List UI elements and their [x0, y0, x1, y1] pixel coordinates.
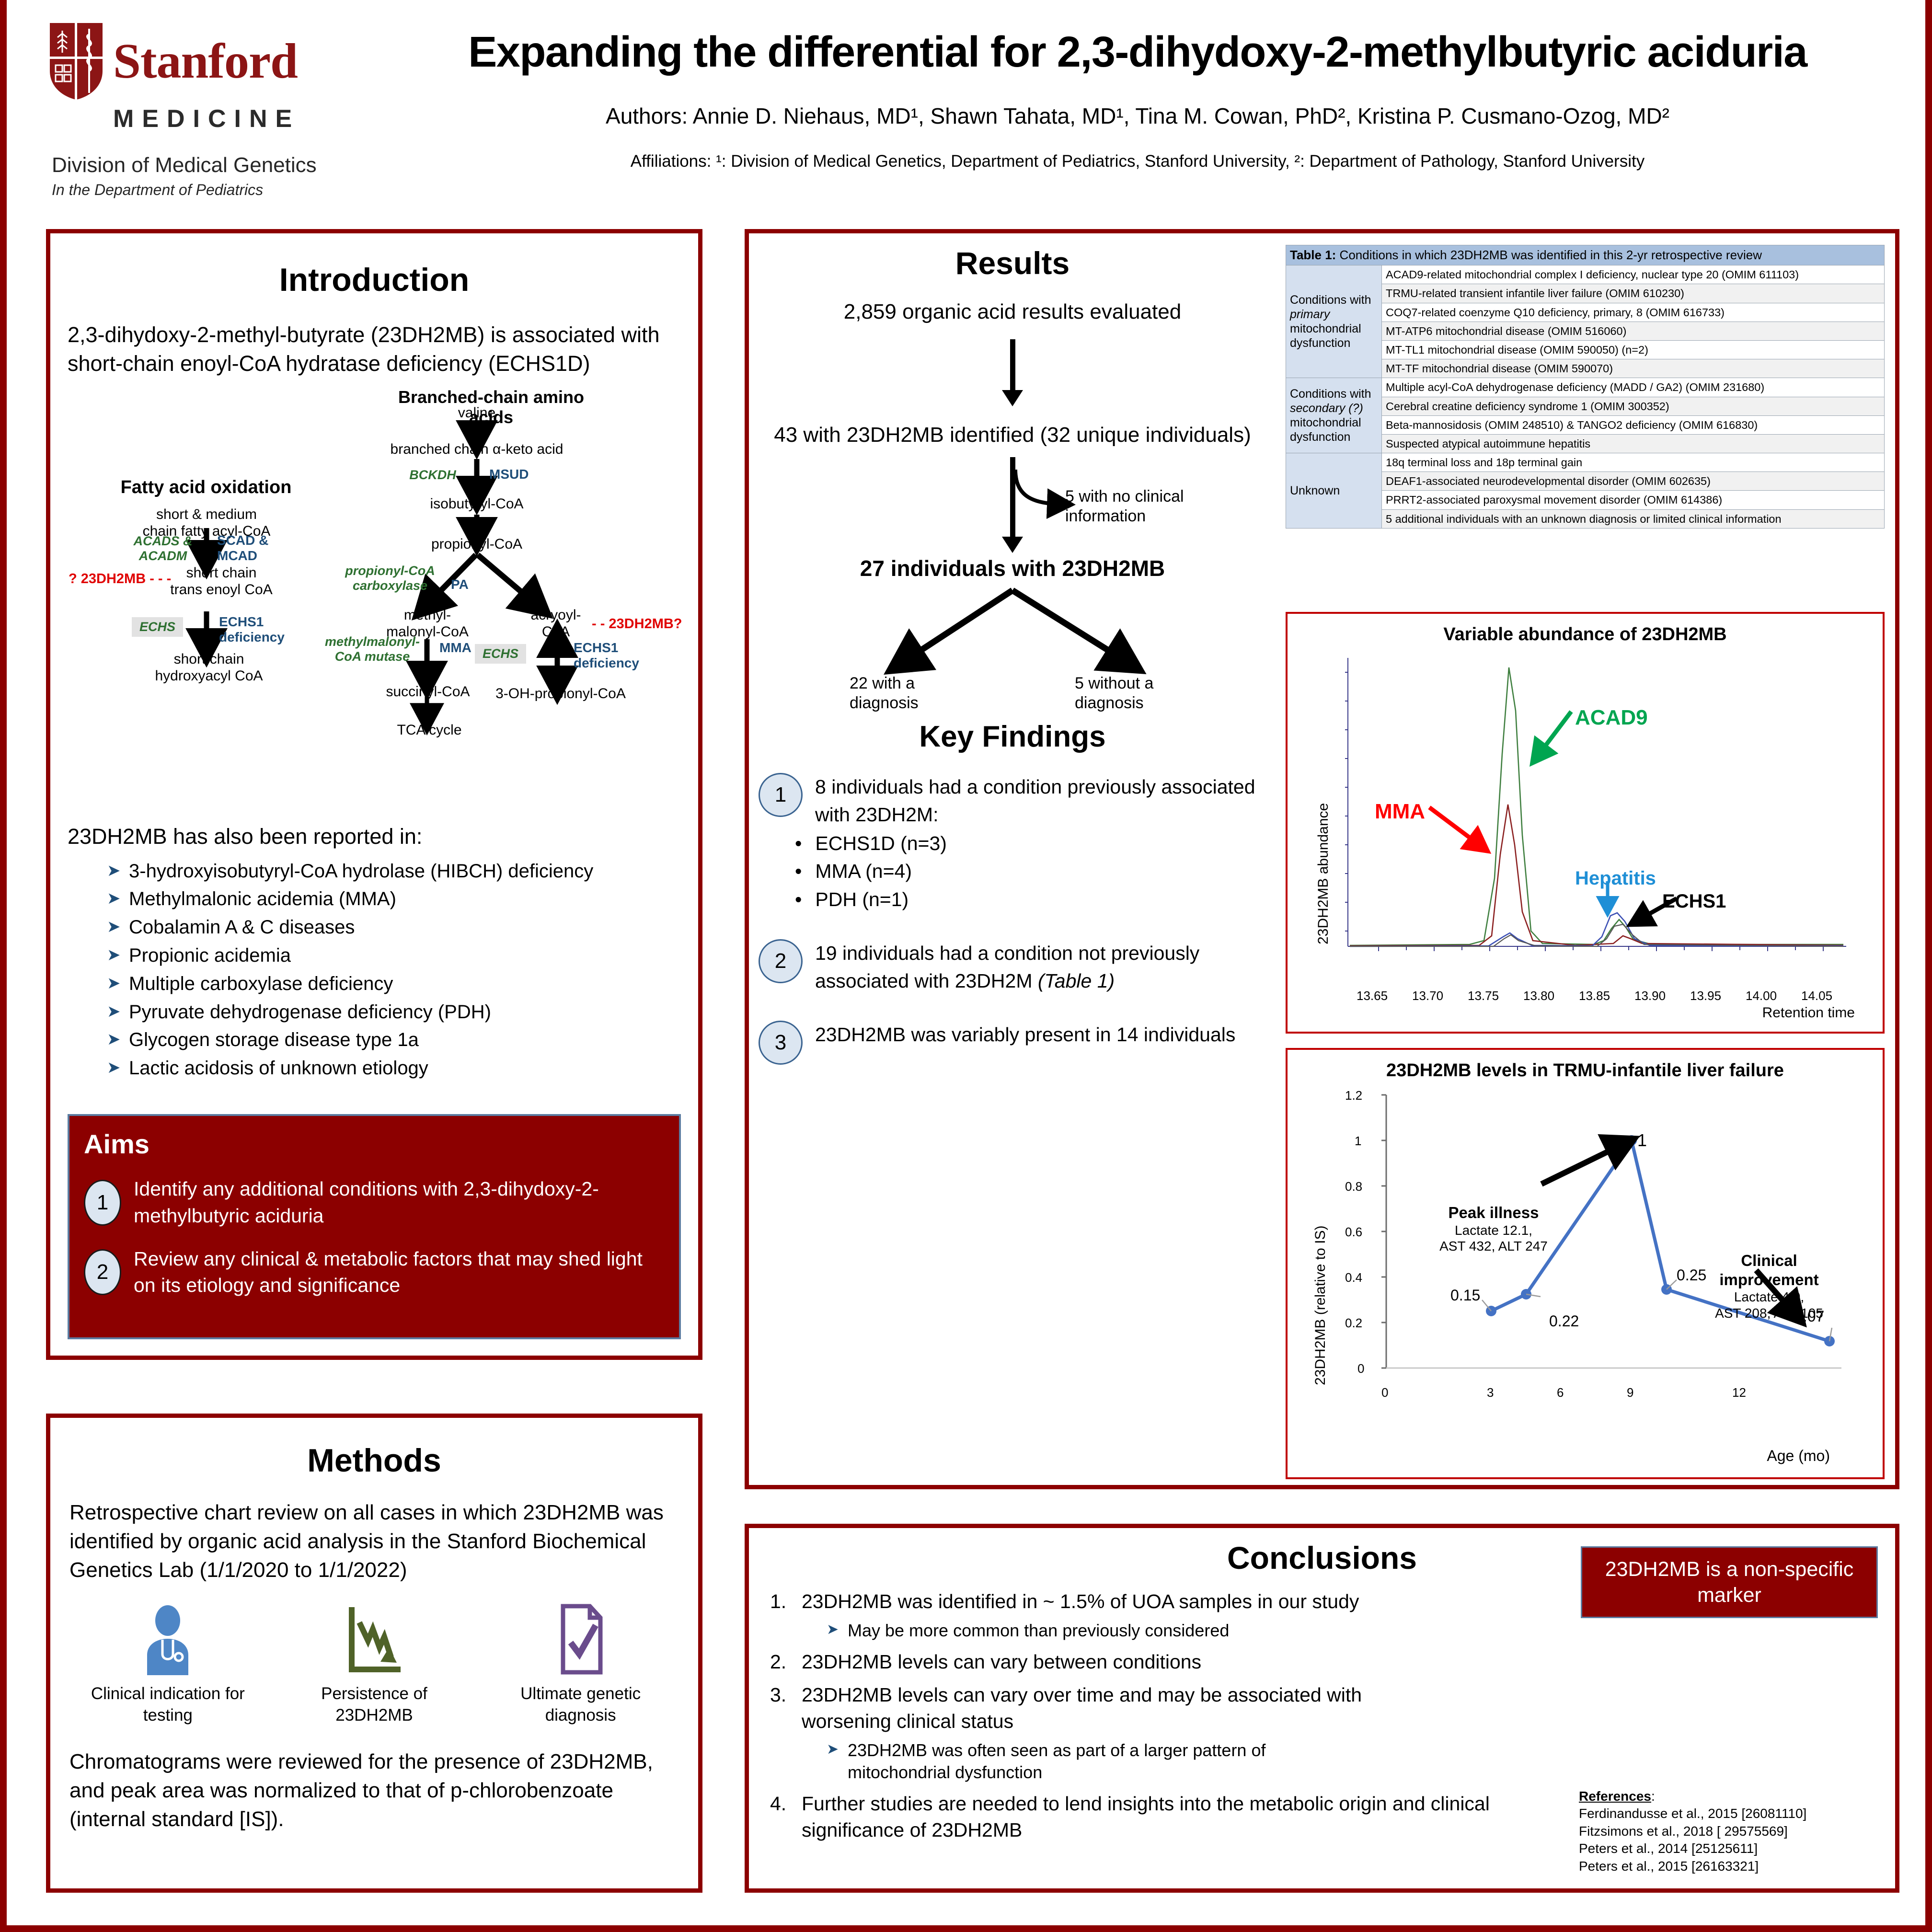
methods-paragraph-2: Chromatograms were reviewed for the pres… [69, 1748, 679, 1833]
key-finding-text: 23DH2MB was variably present in 14 indiv… [815, 1021, 1235, 1048]
list-item: ➤Cobalamin A & C diseases [107, 914, 681, 941]
annotation-acad9: ACAD9 [1575, 706, 1648, 730]
table-row: Conditions with primary mitochondrial dy… [1286, 265, 1885, 284]
authors-prefix: Authors: [606, 103, 693, 128]
key-finding-text: 19 individuals had a condition not previ… [815, 939, 1266, 995]
conclusion-item: 4. Further studies are needed to lend in… [770, 1791, 1561, 1843]
department-label: In the Department of Pediatrics [52, 181, 355, 199]
pathway-arrows-svg [50, 386, 698, 817]
conclusion-subtext: May be more common than previously consi… [848, 1620, 1229, 1642]
conclusion-item: 3. 23DH2MB levels can vary over time and… [770, 1682, 1561, 1735]
clinician-icon [137, 1603, 199, 1675]
table-row: Table 1: Conditions in which 23DH2MB was… [1286, 245, 1885, 265]
node-acryoyl-coa: acryoyl- CoA [510, 607, 601, 641]
table1-category-unknown: Unknown [1286, 453, 1382, 529]
non-specific-marker-callout: 23DH2MB is a non-specific marker [1581, 1546, 1878, 1618]
list-item: MMA (n=4) [795, 857, 1266, 885]
table1: Table 1: Conditions in which 23DH2MB was… [1286, 245, 1885, 529]
disease-echs1-deficiency-right: ECHS1 deficiency [574, 640, 669, 671]
reference-item: Peters et al., 2015 [26163321] [1579, 1858, 1866, 1875]
marker-23dh2mb-right: - - 23DH2MB? [592, 616, 682, 632]
x-tick: 0 [1381, 1385, 1388, 1400]
conclusion-number: 4. [770, 1791, 802, 1843]
methods-icon-label: Ultimate genetic diagnosis [502, 1683, 660, 1726]
node-propionyl-coa: propionyl-CoA [414, 536, 539, 552]
medicine-wordmark: MEDICINE [113, 104, 355, 133]
fao-header: Fatty acid oxidation [103, 477, 309, 498]
chromatogram-title: Variable abundance of 23DH2MB [1288, 624, 1883, 645]
enzyme-propionyl-coa-carboxylase: propionyl-CoA carboxylase [335, 563, 445, 594]
flow-step-1: 2,859 organic acid results evaluated [759, 299, 1266, 325]
x-tick: 3 [1487, 1385, 1494, 1400]
methods-paragraph-1: Retrospective chart review on all cases … [69, 1498, 679, 1584]
methods-icon-item: Clinical indication for testing [89, 1603, 247, 1726]
flow-side-note: 5 with no clinical information [1065, 487, 1242, 527]
enzyme-acads-acadm: ACADS & ACADM [127, 534, 199, 564]
key-finding-item: 1 8 individuals had a condition previous… [759, 773, 1266, 828]
list-item: ➤Pyruvate dehydrogenase deficiency (PDH) [107, 999, 681, 1026]
key-finding-item: 3 23DH2MB was variably present in 14 ind… [759, 1021, 1266, 1065]
methods-icon-item: Persistence of 23DH2MB [295, 1603, 453, 1726]
chevron-right-icon: ➤ [827, 1739, 848, 1784]
table1-cell: PRRT2-associated paroxysmal movement dis… [1382, 491, 1885, 509]
chevron-right-icon: ➤ [107, 1055, 129, 1081]
methods-panel: Methods Retrospective chart review on al… [46, 1414, 702, 1893]
affiliations-line: Affiliations: ¹: Division of Medical Gen… [371, 152, 1904, 171]
aim-number-badge: 2 [84, 1249, 121, 1295]
key-finding-text: 8 individuals had a condition previously… [815, 773, 1266, 828]
trmu-chart-panel: 23DH2MB levels in TRMU-infantile liver f… [1286, 1048, 1885, 1479]
key-finding-item: 2 19 individuals had a condition not pre… [759, 939, 1266, 995]
title-block: Expanding the differential for 2,3-dihyd… [371, 29, 1904, 171]
conclusion-text: 23DH2MB levels can vary over time and ma… [802, 1682, 1405, 1735]
table-row: Unknown 18q terminal loss and 18p termin… [1286, 453, 1885, 472]
annotation-clinical-improvement-detail: Lactate 4.0, AST 208, ALT 105 [1695, 1289, 1843, 1321]
table1-cell: 5 additional individuals with an unknown… [1382, 509, 1885, 528]
key-findings-title: Key Findings [759, 720, 1266, 754]
point-label: 1 [1637, 1130, 1647, 1150]
aims-box: Aims 1 Identify any additional condition… [68, 1114, 681, 1339]
list-item-label: Cobalamin A & C diseases [129, 914, 355, 941]
chevron-right-icon: ➤ [107, 885, 129, 911]
x-tick: 13.80 [1523, 989, 1554, 1003]
table-row: Conditions with secondary (?) mitochondr… [1286, 378, 1885, 397]
table1-cell: 18q terminal loss and 18p terminal gain [1382, 453, 1885, 472]
key-finding-sublist: ECHS1D (n=3) MMA (n=4) PDH (n=1) [795, 829, 1266, 913]
introduction-panel: Introduction 2,3-dihydoxy-2-methyl-butyr… [46, 229, 702, 1360]
conclusion-item: 1. 23DH2MB was identified in ~ 1.5% of U… [770, 1588, 1561, 1615]
conclusion-text: Further studies are needed to lend insig… [802, 1791, 1492, 1843]
annotation-hepatitis: Hepatitis [1575, 868, 1656, 889]
annotation-echs1: ECHS1 [1662, 891, 1726, 912]
x-tick: 13.75 [1468, 989, 1499, 1003]
y-tick: 0.2 [1345, 1316, 1362, 1331]
stanford-shield-icon [48, 21, 104, 102]
node-isobutyryl-coa: isobutyryl-CoA [414, 495, 539, 512]
key-finding-number-badge: 3 [759, 1021, 803, 1065]
annotation-clinical-improvement: Clinical improvement Lactate 4.0, AST 20… [1695, 1251, 1843, 1321]
conclusions-list: 1. 23DH2MB was identified in ~ 1.5% of U… [770, 1588, 1561, 1843]
table1-category-secondary: Conditions with secondary (?) mitochondr… [1286, 378, 1382, 453]
disease-msud: MSUD [489, 467, 561, 482]
list-item: ➤Glycogen storage disease type 1a [107, 1026, 681, 1054]
disease-scad-mcad: SCAD & MCAD [217, 533, 303, 564]
stanford-wordmark: Stanford [113, 36, 298, 86]
authors-names: Annie D. Niehaus, MD¹, Shawn Tahata, MD¹… [693, 103, 1669, 128]
conclusion-subitem: ➤ May be more common than previously con… [827, 1620, 1561, 1642]
trmu-chart-title: 23DH2MB levels in TRMU-infantile liver f… [1288, 1060, 1883, 1081]
affiliations-prefix: Affiliations: [631, 152, 716, 171]
page-title: Expanding the differential for 2,3-dihyd… [371, 29, 1904, 76]
key-finding-main: 19 individuals had a condition not previ… [815, 942, 1199, 992]
aim-item: 2 Review any clinical & metabolic factor… [84, 1246, 665, 1299]
list-item: ➤Methylmalonic acidemia (MMA) [107, 885, 681, 913]
methods-icon-item: Ultimate genetic diagnosis [502, 1603, 660, 1726]
list-item-label: Lactic acidosis of unknown etiology [129, 1055, 428, 1082]
list-item: PDH (n=1) [795, 885, 1266, 913]
chevron-right-icon: ➤ [107, 942, 129, 968]
list-item-label: Glycogen storage disease type 1a [129, 1026, 419, 1054]
conclusion-text: 23DH2MB was identified in ~ 1.5% of UOA … [802, 1588, 1359, 1615]
conclusion-subtext: 23DH2MB was often seen as part of a larg… [848, 1739, 1327, 1784]
metabolic-pathway-diagram: Branched-chain amino acids Fatty acid ox… [50, 386, 698, 817]
table1-cell: Beta-mannosidosis (OMIM 248510) & TANGO2… [1382, 415, 1885, 434]
table1-cell: ACAD9-related mitochondrial complex I de… [1382, 265, 1885, 284]
introduction-title: Introduction [50, 261, 698, 299]
poster-header: Stanford MEDICINE Division of Medical Ge… [7, 0, 1932, 211]
list-item: ➤3-hydroxyisobutyryl-CoA hydrolase (HIBC… [107, 858, 681, 885]
methods-title: Methods [50, 1442, 698, 1479]
results-flow-column: Results 2,859 organic acid results evalu… [759, 245, 1266, 1065]
table1-cell: MT-TL1 mitochondrial disease (OMIM 59005… [1382, 340, 1885, 359]
reference-item: Ferdinandusse et al., 2015 [26081110] [1579, 1805, 1866, 1822]
node-short-chain-hydroxyacyl-coa: short chain hydroxyacyl CoA [154, 651, 264, 685]
table1-cell: MT-ATP6 mitochondrial disease (OMIM 5160… [1382, 322, 1885, 340]
x-tick: 13.95 [1690, 989, 1721, 1003]
annotation-peak-illness-detail: Lactate 12.1, AST 432, ALT 247 [1422, 1222, 1565, 1254]
list-item-label: Multiple carboxylase deficiency [129, 970, 393, 998]
x-tick-6: 6 [1557, 1385, 1564, 1400]
flow-step-2: 43 with 23DH2MB identified (32 unique in… [759, 422, 1266, 448]
node-short-chain-trans-enoyl-coa: short chain trans enoyl CoA [166, 564, 276, 598]
chromatogram-panel: Variable abundance of 23DH2MB 23DH2MB ab… [1286, 612, 1885, 1034]
chevron-right-icon: ➤ [107, 858, 129, 884]
table1-cell: Cerebral creatine deficiency syndrome 1 … [1382, 397, 1885, 415]
table1-caption-text: Conditions in which 23DH2MB was identifi… [1336, 248, 1762, 262]
enzyme-methylmalonyl-coa-mutase: methylmalonyl- CoA mutase [324, 634, 420, 665]
enzyme-bckdh: BCKDH [399, 468, 466, 483]
table1-cell: TRMU-related transient infantile liver f… [1382, 284, 1885, 303]
declining-chart-icon [343, 1603, 405, 1675]
chevron-right-icon: ➤ [107, 1026, 129, 1052]
node-valine: valine [443, 404, 510, 421]
list-item-label: Propionic acidemia [129, 942, 291, 969]
chromatogram-x-axis-label: Retention time [1762, 1005, 1855, 1021]
annotation-peak-illness-label: Peak illness [1422, 1203, 1565, 1222]
key-finding-table-ref: (Table 1) [1038, 970, 1115, 992]
methods-icon-row: Clinical indication for testing Persiste… [65, 1603, 684, 1726]
list-item-label: Methylmalonic acidemia (MMA) [129, 885, 396, 913]
affiliations-text: ¹: Division of Medical Genetics, Departm… [716, 152, 1644, 171]
y-tick: 0.8 [1345, 1179, 1362, 1194]
x-tick: 13.85 [1579, 989, 1610, 1003]
list-item: ➤Lactic acidosis of unknown etiology [107, 1055, 681, 1082]
authors-line: Authors: Annie D. Niehaus, MD¹, Shawn Ta… [371, 103, 1904, 129]
flow-arrow-1 [1010, 339, 1015, 392]
chevron-right-icon: ➤ [107, 999, 129, 1024]
introduction-lead-text: 2,3-dihydoxy-2-methyl-butyrate (23DH2MB)… [68, 321, 681, 379]
enzyme-echs-left: ECHS [132, 617, 183, 637]
conclusion-item: 2. 23DH2MB levels can vary between condi… [770, 1649, 1561, 1675]
y-tick: 0.4 [1345, 1270, 1362, 1285]
methods-icon-label: Clinical indication for testing [89, 1683, 247, 1726]
conclusion-text: 23DH2MB levels can vary between conditio… [802, 1649, 1201, 1675]
chevron-right-icon: ➤ [107, 914, 129, 940]
aims-title: Aims [84, 1128, 665, 1160]
flow-step-3: 27 individuals with 23DH2MB [759, 555, 1266, 583]
division-label: Division of Medical Genetics [52, 153, 355, 177]
table1-category-primary: Conditions with primary mitochondrial dy… [1286, 265, 1382, 378]
enzyme-echs-right: ECHS [475, 644, 526, 664]
table1-caption-label: Table 1: [1290, 248, 1336, 262]
table1-cell: COQ7-related coenzyme Q10 deficiency, pr… [1382, 303, 1885, 322]
x-tick: 12 [1732, 1385, 1746, 1400]
point-label: 0.22 [1549, 1312, 1579, 1330]
results-title: Results [759, 245, 1266, 281]
aim-item: 1 Identify any additional conditions wit… [84, 1176, 665, 1230]
table1-caption: Table 1: Conditions in which 23DH2MB was… [1286, 245, 1885, 265]
trmu-y-axis-label: 23DH2MB (relative to IS) [1312, 1226, 1329, 1385]
conclusion-number: 1. [770, 1588, 802, 1615]
x-tick: 14.00 [1746, 989, 1777, 1003]
poster-root: Stanford MEDICINE Division of Medical Ge… [0, 0, 1932, 1932]
annotation-peak-illness: Peak illness Lactate 12.1, AST 432, ALT … [1422, 1203, 1565, 1254]
list-item-label: 3-hydroxyisobutyryl-CoA hydrolase (HIBCH… [129, 858, 593, 885]
conclusion-subitem: ➤ 23DH2MB was often seen as part of a la… [827, 1739, 1561, 1784]
x-tick: 9 [1627, 1385, 1633, 1400]
references-block: References: Ferdinandusse et al., 2015 [… [1579, 1788, 1866, 1875]
stanford-medicine-logo: Stanford MEDICINE Division of Medical Ge… [48, 21, 355, 199]
node-succinyl-coa: succinyl-CoA [370, 683, 485, 700]
document-check-icon [550, 1603, 612, 1675]
trmu-x-axis-label: Age (mo) [1767, 1447, 1830, 1465]
table1-cell: Multiple acyl-CoA dehydrogenase deficien… [1382, 378, 1885, 397]
annotation-clinical-improvement-label: Clinical improvement [1695, 1251, 1843, 1289]
point-label: 0.15 [1450, 1287, 1480, 1304]
y-tick: 0.6 [1345, 1225, 1362, 1240]
flow-branch-left: 22 with a diagnosis [850, 674, 974, 713]
disease-pa: PA [451, 577, 489, 592]
references-header: References [1579, 1789, 1651, 1804]
key-finding-number-badge: 1 [759, 773, 803, 817]
list-item-label: Pyruvate dehydrogenase deficiency (PDH) [129, 999, 491, 1026]
conclusion-number: 3. [770, 1682, 802, 1735]
aim-number-badge: 1 [84, 1180, 121, 1226]
chromatogram-x-ticks: 13.65 13.70 13.75 13.80 13.85 13.90 13.9… [1348, 989, 1846, 1003]
methods-icon-label: Persistence of 23DH2MB [295, 1683, 453, 1726]
y-tick: 0 [1357, 1361, 1364, 1376]
marker-23dh2mb-left: ? 23DH2MB - - - [69, 571, 171, 587]
disease-echs1-deficiency-left: ECHS1 deficiency [219, 614, 310, 645]
x-tick: 13.70 [1412, 989, 1443, 1003]
table1-cell: DEAF1-associated neurodevelopmental diso… [1382, 472, 1885, 491]
x-tick: 14.05 [1801, 989, 1832, 1003]
list-item: ECHS1D (n=3) [795, 829, 1266, 857]
annotation-mma: MMA [1375, 800, 1425, 824]
reported-in-list: ➤3-hydroxyisobutyryl-CoA hydrolase (HIBC… [107, 858, 681, 1082]
reference-item: Peters et al., 2014 [25125611] [1579, 1840, 1866, 1857]
node-3-oh-propionyl-coa: 3-OH-propionyl-CoA [482, 685, 640, 702]
conclusion-number: 2. [770, 1649, 802, 1675]
aim-text: Review any clinical & metabolic factors … [134, 1246, 665, 1299]
references-header-line: References: [1579, 1788, 1866, 1805]
chevron-right-icon: ➤ [827, 1620, 848, 1642]
y-tick: 1.2 [1345, 1088, 1362, 1103]
conclusions-panel: Conclusions 1. 23DH2MB was identified in… [745, 1524, 1899, 1893]
x-tick: 13.90 [1634, 989, 1666, 1003]
reported-in-header: 23DH2MB has also been reported in: [68, 824, 681, 849]
table1-cell: MT-TF mitochondrial disease (OMIM 590070… [1382, 359, 1885, 378]
list-item: ➤Propionic acidemia [107, 942, 681, 969]
flow-branch-right: 5 without a diagnosis [1075, 674, 1199, 713]
aim-text: Identify any additional conditions with … [134, 1176, 665, 1230]
y-tick: 1 [1355, 1134, 1361, 1149]
reference-item: Fitzsimons et al., 2018 [ 29575569] [1579, 1823, 1866, 1840]
node-branched-chain-keto-acid: branched chain α-keto acid [381, 441, 573, 458]
key-finding-number-badge: 2 [759, 939, 803, 983]
table1-cell: Suspected atypical autoimmune hepatitis [1382, 434, 1885, 453]
chevron-right-icon: ➤ [107, 970, 129, 996]
results-panel: Results 2,859 organic acid results evalu… [745, 229, 1899, 1489]
node-tca-cycle: TCA cycle [389, 722, 470, 738]
flow-split-arrows [759, 587, 1266, 683]
table1-wrap: Table 1: Conditions in which 23DH2MB was… [1286, 245, 1885, 529]
list-item: ➤Multiple carboxylase deficiency [107, 970, 681, 998]
x-tick: 13.65 [1357, 989, 1388, 1003]
